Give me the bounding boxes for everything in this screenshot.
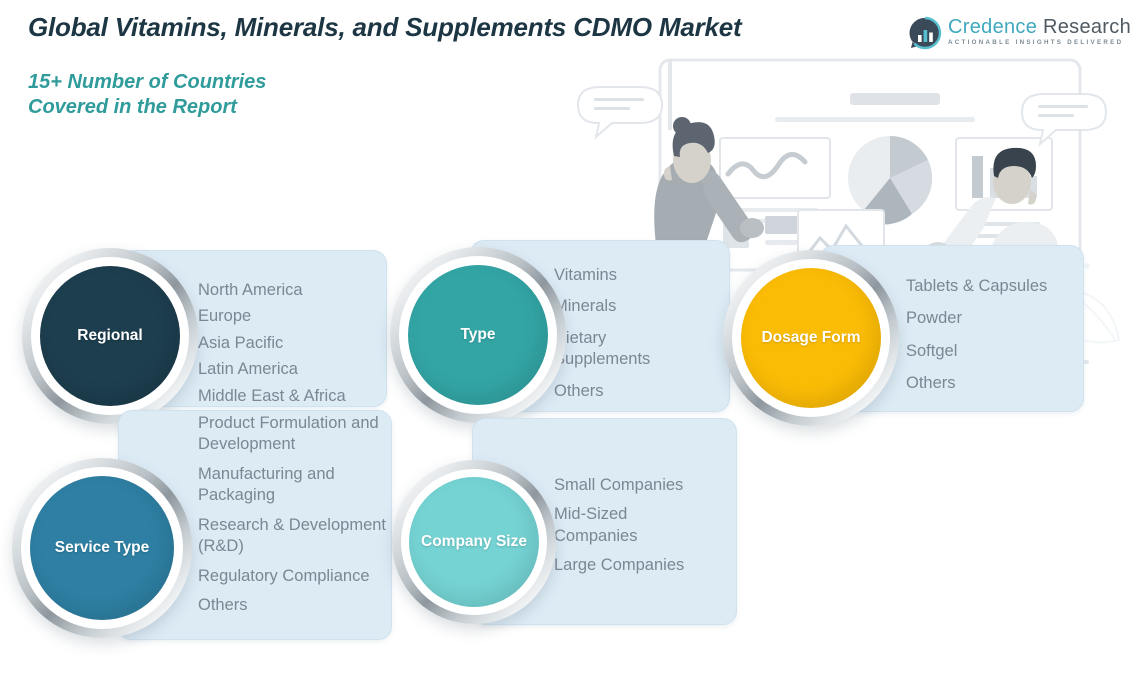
list-item: Research & Development (R&D) [198, 515, 386, 558]
list-item: Europe [198, 306, 388, 327]
list-item: Softgel [906, 341, 1096, 362]
segment-items-service-type: Product Formulation and Development Manu… [198, 413, 386, 622]
logo-tagline: Actionable Insights Delivered [948, 40, 1131, 46]
segment-circle-company-size[interactable]: Company Size [409, 477, 539, 607]
segment-items-dosage-form: Tablets & Capsules Powder Softgel Others [906, 276, 1096, 400]
list-item: Others [198, 595, 386, 616]
logo-wordmark: Credence Research Actionable Insights De… [948, 17, 1131, 46]
segment-label-service-type: Service Type [49, 539, 156, 557]
segment-items-company-size: Small Companies Mid-Sized Companies Larg… [554, 475, 736, 582]
segment-label-dosage-form: Dosage Form [755, 329, 866, 347]
list-item: Others [906, 373, 1096, 394]
segment-label-regional: Regional [71, 327, 148, 345]
list-item: Product Formulation and Development [198, 413, 386, 456]
page-subtitle: 15+ Number of Countries Covered in the R… [28, 70, 266, 120]
segment-circle-service-type[interactable]: Service Type [30, 476, 174, 620]
list-item: Dietary Supplements [554, 328, 674, 371]
bar-chart-bubble-icon [908, 16, 940, 48]
list-item: Regulatory Compliance [198, 566, 386, 587]
list-item: North America [198, 280, 388, 301]
brand-logo[interactable]: Credence Research Actionable Insights De… [908, 16, 1131, 48]
list-item: Vitamins [554, 265, 729, 286]
infographic-canvas: Global Vitamins, Minerals, and Supplemen… [0, 0, 1145, 681]
list-item: Minerals [554, 296, 729, 317]
list-item: Tablets & Capsules [906, 276, 1096, 297]
segment-label-type: Type [454, 326, 501, 344]
segment-label-company-size: Company Size [415, 533, 533, 551]
list-item: Manufacturing and Packaging [198, 464, 386, 507]
speech-bubble-right [1022, 94, 1106, 144]
subtitle-line-1: 15+ Number of Countries [28, 70, 266, 95]
list-item: Small Companies [554, 475, 736, 496]
list-item: Others [554, 381, 729, 402]
logo-name-secondary: Research [1043, 16, 1131, 38]
list-item: Middle East & Africa [198, 386, 388, 407]
segment-circle-dosage-form[interactable]: Dosage Form [741, 268, 881, 408]
list-item: Asia Pacific [198, 333, 388, 354]
list-item: Mid-Sized Companies [554, 504, 664, 547]
subtitle-line-2: Covered in the Report [28, 95, 266, 120]
segment-circle-regional[interactable]: Regional [40, 266, 180, 406]
speech-bubble-left [578, 87, 662, 137]
segment-items-regional: North America Europe Asia Pacific Latin … [198, 280, 388, 412]
logo-name-primary: Credence [948, 16, 1037, 38]
segment-items-type: Vitamins Minerals Dietary Supplements Ot… [554, 265, 729, 407]
list-item: Large Companies [554, 555, 736, 576]
list-item: Latin America [198, 359, 388, 380]
page-title: Global Vitamins, Minerals, and Supplemen… [28, 12, 742, 43]
segment-circle-type[interactable]: Type [408, 265, 548, 405]
list-item: Powder [906, 308, 1096, 329]
